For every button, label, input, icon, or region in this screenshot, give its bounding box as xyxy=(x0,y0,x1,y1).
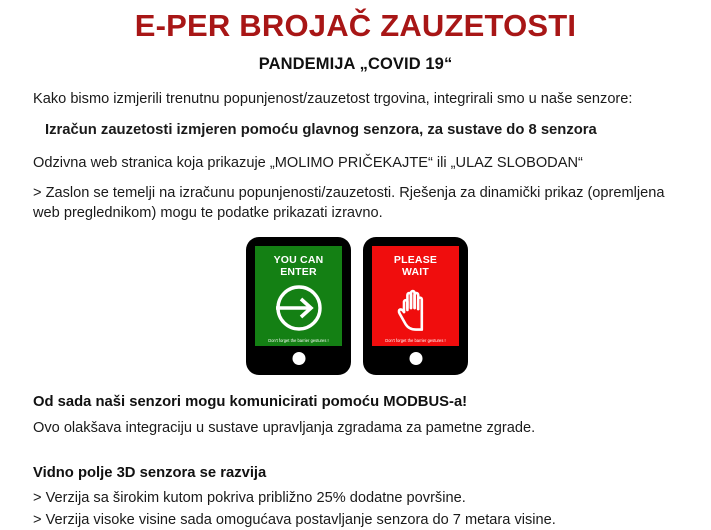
fov-heading: Vidno polje 3D senzora se razvija xyxy=(33,439,681,481)
modbus-heading: Od sada naši senzori mogu komunicirati p… xyxy=(33,375,681,410)
home-button-icon xyxy=(292,352,305,365)
phone-footnote-enter: Don't forget the barrier gestures ! xyxy=(256,338,341,343)
phone-screen-line2: ENTER xyxy=(274,266,324,278)
modbus-body: Ovo olakšava integraciju u sustave uprav… xyxy=(33,410,681,439)
phone-screen-line1: PLEASE xyxy=(394,254,437,266)
body-content: Kako bismo izmjerili trenutnu popunjenos… xyxy=(0,74,711,530)
fov-line-2: > Verzija visoke visine sada omogućava p… xyxy=(33,509,681,530)
phone-screen-message-wait: PLEASE WAIT xyxy=(394,254,437,278)
page-title: E-PER BROJAČ ZAUZETOSTI xyxy=(0,0,711,44)
document-page: E-PER BROJAČ ZAUZETOSTI PANDEMIJA „COVID… xyxy=(0,0,711,505)
phone-footnote-wait: Don't forget the barrier gestures ! xyxy=(373,338,458,343)
phone-mockups: YOU CAN ENTER Don't forget the barrier g… xyxy=(33,237,681,375)
screen-note-paragraph: > Zaslon se temelji na izračunu popunjen… xyxy=(33,174,681,223)
highlight-paragraph: Izračun zauzetosti izmjeren pomoću glavn… xyxy=(33,109,681,141)
phone-screen-line1: YOU CAN xyxy=(274,254,324,266)
arrow-enter-icon xyxy=(255,278,342,338)
phone-screen-enter: YOU CAN ENTER Don't forget the barrier g… xyxy=(255,246,342,346)
phone-mockup-enter: YOU CAN ENTER Don't forget the barrier g… xyxy=(246,237,351,375)
phone-screen-line2: WAIT xyxy=(394,266,437,278)
page-subtitle: PANDEMIJA „COVID 19“ xyxy=(0,44,711,74)
home-button-icon xyxy=(409,352,422,365)
responsive-page-paragraph: Odzivna web stranica koja prikazuje „MOL… xyxy=(33,141,681,174)
phone-screen-wait: PLEASE WAIT xyxy=(372,246,459,346)
intro-paragraph: Kako bismo izmjerili trenutnu popunjenos… xyxy=(33,74,681,110)
phone-screen-message-enter: YOU CAN ENTER xyxy=(274,254,324,278)
phone-mockup-wait: PLEASE WAIT xyxy=(363,237,468,375)
raised-hand-icon xyxy=(372,278,459,338)
